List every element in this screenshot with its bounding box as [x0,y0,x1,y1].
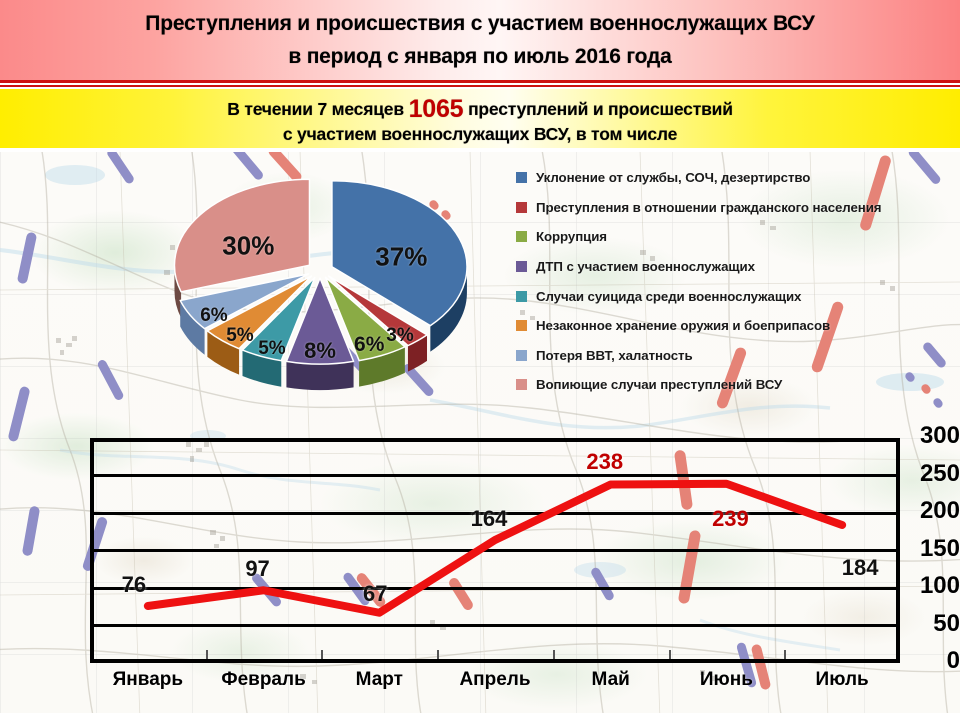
legend-swatch-icon [516,202,527,213]
data-point-label: 164 [471,506,508,532]
legend-swatch-icon [516,291,527,302]
data-point-label: 76 [122,572,146,598]
legend-item-label: Преступления в отношении гражданского на… [536,200,881,215]
pie-slice-value: 5% [226,325,253,347]
line-chart-series [0,425,960,675]
legend-item: Уклонение от службы, СОЧ, дезертирство [513,163,953,193]
legend-item-label: Потеря ВВТ, халатность [536,348,693,363]
series-polyline [148,484,842,613]
data-point-label: 67 [363,581,387,607]
pie-chart-svg [120,160,520,420]
legend-swatch-icon [516,231,527,242]
x-axis-tick-label: Март [356,669,403,691]
pie-slice-value: 5% [258,338,285,360]
legend-swatch-icon [516,350,527,361]
pie-slice-value: 6% [354,333,384,357]
summary-suffix: преступлений и происшествий [468,99,733,119]
legend-swatch-icon [516,379,527,390]
page-bottom-edge [0,713,960,720]
legend-item-label: Незаконное хранение оружия и боеприпасов [536,318,830,333]
line-chart-x-axis: ЯнварьФевральМартАпрельМайИюньИюль [90,669,900,703]
legend-swatch-icon [516,261,527,272]
data-point-label: 97 [245,556,269,582]
x-axis-tick-label: Июль [816,669,869,691]
data-point-label: 238 [586,449,623,475]
legend-item: Преступления в отношении гражданского на… [513,193,953,223]
x-axis-tick-label: Февраль [221,669,305,691]
pie-chart-legend: Уклонение от службы, СОЧ, дезертирствоПр… [513,163,953,400]
page-title-line-1: Преступления и происшествия с участием в… [0,12,960,36]
summary-prefix: В течении 7 месяцев [227,99,404,119]
x-axis-tick-label: Апрель [459,669,530,691]
total-count-highlight: 1065 [409,95,464,123]
legend-item-label: ДТП с участием военнослужащих [536,259,755,274]
legend-swatch-icon [516,172,527,183]
legend-item: Незаконное хранение оружия и боеприпасов [513,311,953,341]
legend-item-label: Уклонение от службы, СОЧ, дезертирство [536,170,810,185]
page-title-line-2: в период с января по июль 2016 года [0,45,960,69]
legend-item-label: Вопиющие случаи преступлений ВСУ [536,377,782,392]
x-axis-tick-label: Январь [113,669,183,691]
pie-slice-value: 37% [375,241,427,272]
legend-swatch-icon [516,320,527,331]
pie-slice-value: 3% [386,325,413,347]
pie-slice-value: 8% [304,338,336,364]
legend-item: Коррупция [513,222,953,252]
legend-item-label: Коррупция [536,229,607,244]
legend-item: Вопиющие случаи преступлений ВСУ [513,370,953,400]
legend-item-label: Случаи суицида среди военнослужащих [536,289,801,304]
title-band-divider [0,80,960,89]
legend-item: Потеря ВВТ, халатность [513,341,953,371]
summary-line-1: В течении 7 месяцев 1065 преступлений и … [0,95,960,124]
x-axis-tick-label: Июнь [700,669,753,691]
pie-slice-value: 6% [200,305,227,327]
summary-line-2: с участием военнослужащих ВСУ, в том чис… [0,124,960,145]
pie-slice-value: 30% [222,230,274,261]
infographic-page: Преступления и происшествия с участием в… [0,0,960,720]
legend-item: ДТП с участием военнослужащих [513,252,953,282]
header-bottom-edge [0,148,960,152]
data-point-label: 184 [842,555,879,581]
data-point-label: 239 [712,506,749,532]
x-axis-tick-label: Май [592,669,630,691]
line-chart: 300250200150100500 769767164238239184 Ян… [0,425,960,675]
legend-item: Случаи суицида среди военнослужащих [513,281,953,311]
pie-chart: 37%3%6%8%5%5%6%30% [120,160,520,420]
